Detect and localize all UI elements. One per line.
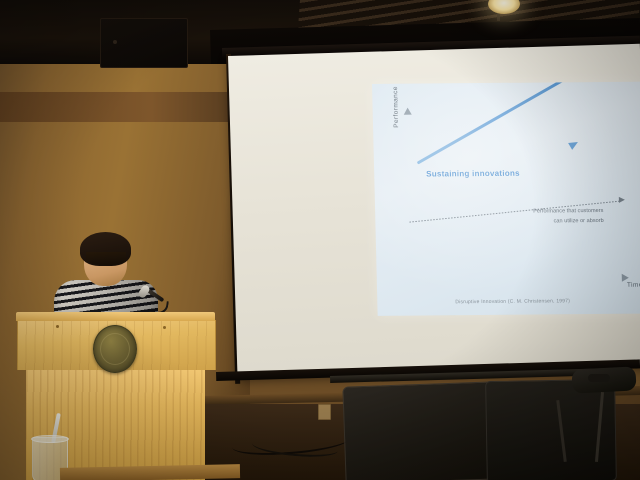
podium-screw-left (56, 325, 59, 328)
chart-y-axis (408, 112, 413, 280)
chart-customer-line-arrow-icon (619, 197, 625, 203)
chart-x-axis-label: Time (627, 282, 640, 289)
chart-x-axis (412, 278, 624, 281)
projector-glare (372, 82, 640, 316)
chart-sustaining-innovation-line (417, 82, 567, 165)
chart-sustaining-arrow-icon (568, 139, 580, 150)
chart-y-axis-arrow-icon (404, 108, 412, 115)
presenter-hair-fringe (86, 252, 126, 265)
wall-upper-band (0, 92, 252, 122)
chart-x-axis-arrow-icon (622, 274, 629, 282)
presentation-photo-scene: Performance Time Sustaining innovations … (0, 0, 640, 480)
chart-attribution: Disruptive Innovation (C. M. Christensen… (455, 298, 570, 305)
chair-seatback-left (342, 381, 499, 480)
chart-customer-note-line2: can utilize or absorb (533, 216, 604, 227)
podium-top-surface (16, 312, 215, 321)
chair-headrest-cutout (588, 374, 610, 382)
chart-customer-note: Performance that customers can utilize o… (533, 206, 604, 227)
podium-seal-inner-ring (100, 333, 130, 365)
projected-slide: Performance Time Sustaining innovations … (372, 82, 640, 316)
wall-outlet-icon (318, 404, 331, 420)
foreground-table-edge (60, 464, 240, 480)
chart-sustaining-label: Sustaining innovations (426, 169, 520, 179)
chart-y-axis-label: Performance (391, 82, 400, 128)
podium-screw-right (163, 326, 166, 329)
wall-speaker-led (113, 40, 117, 44)
chart-customer-note-line1: Performance that customers (533, 206, 604, 217)
plastic-cup-rim (31, 435, 69, 443)
